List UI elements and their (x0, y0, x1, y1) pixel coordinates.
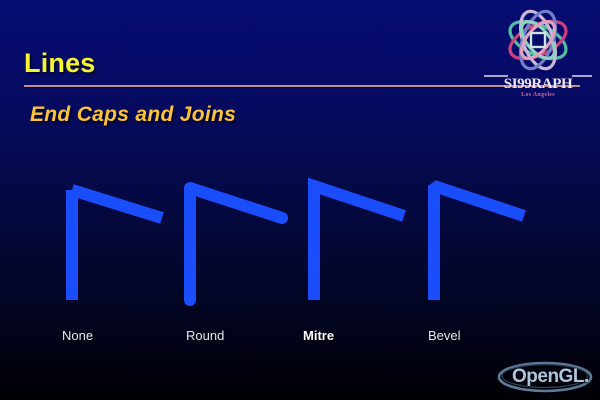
opengl-wordmark: OpenGL. (512, 366, 589, 388)
caption-mitre: Mitre (303, 328, 334, 343)
siggraph-rings-icon (482, 4, 594, 80)
presentation-slide: Lines End Caps and Joins None Ro (0, 0, 600, 400)
example-mitre (314, 186, 404, 300)
example-bevel (434, 186, 524, 300)
opengl-wordmark-suffix: . (584, 366, 589, 387)
caption-round: Round (186, 328, 224, 343)
example-none (72, 190, 162, 300)
none-diagonal-segment (72, 190, 162, 218)
opengl-wordmark-text: OpenGL (512, 366, 584, 387)
siggraph-logo: SI99RAPH Los Angeles (482, 4, 594, 104)
mitre-polyline (314, 186, 404, 300)
round-polyline (190, 188, 282, 300)
opengl-logo: OpenGL. (496, 360, 594, 394)
line-joins-figure (0, 160, 600, 320)
example-round (190, 188, 282, 300)
bevel-polyline (434, 186, 524, 300)
page-title: Lines (24, 48, 96, 79)
slide-subtitle: End Caps and Joins (30, 103, 236, 127)
line-joins-svg (0, 160, 600, 320)
siggraph-location-text: Los Angeles (482, 92, 594, 98)
siggraph-wordmark: SI99RAPH (482, 76, 594, 93)
caption-bevel: Bevel (428, 328, 461, 343)
caption-none: None (62, 328, 93, 343)
